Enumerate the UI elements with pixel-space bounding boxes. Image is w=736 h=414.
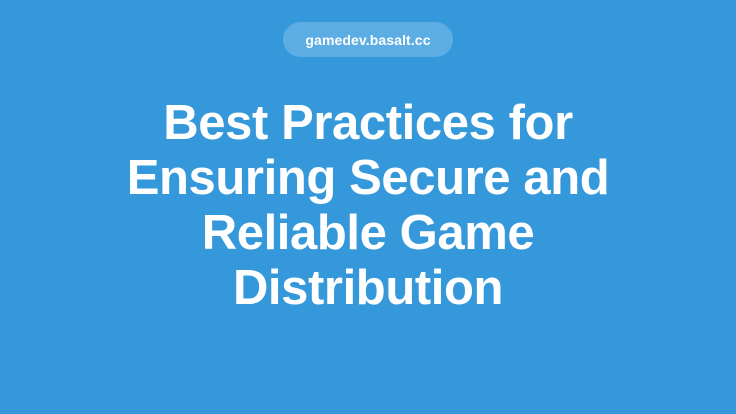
page-title-line-4: Distribution — [40, 261, 696, 316]
page-title-line-2: Ensuring Secure and — [40, 151, 696, 206]
page-title: Best Practices for Ensuring Secure and R… — [0, 96, 736, 316]
page-title-line-1: Best Practices for — [40, 96, 696, 151]
page-title-line-3: Reliable Game — [40, 206, 696, 261]
site-badge-label: gamedev.basalt.cc — [305, 33, 430, 47]
hero-card: gamedev.basalt.cc Best Practices for Ens… — [0, 0, 736, 414]
site-badge: gamedev.basalt.cc — [283, 22, 452, 57]
